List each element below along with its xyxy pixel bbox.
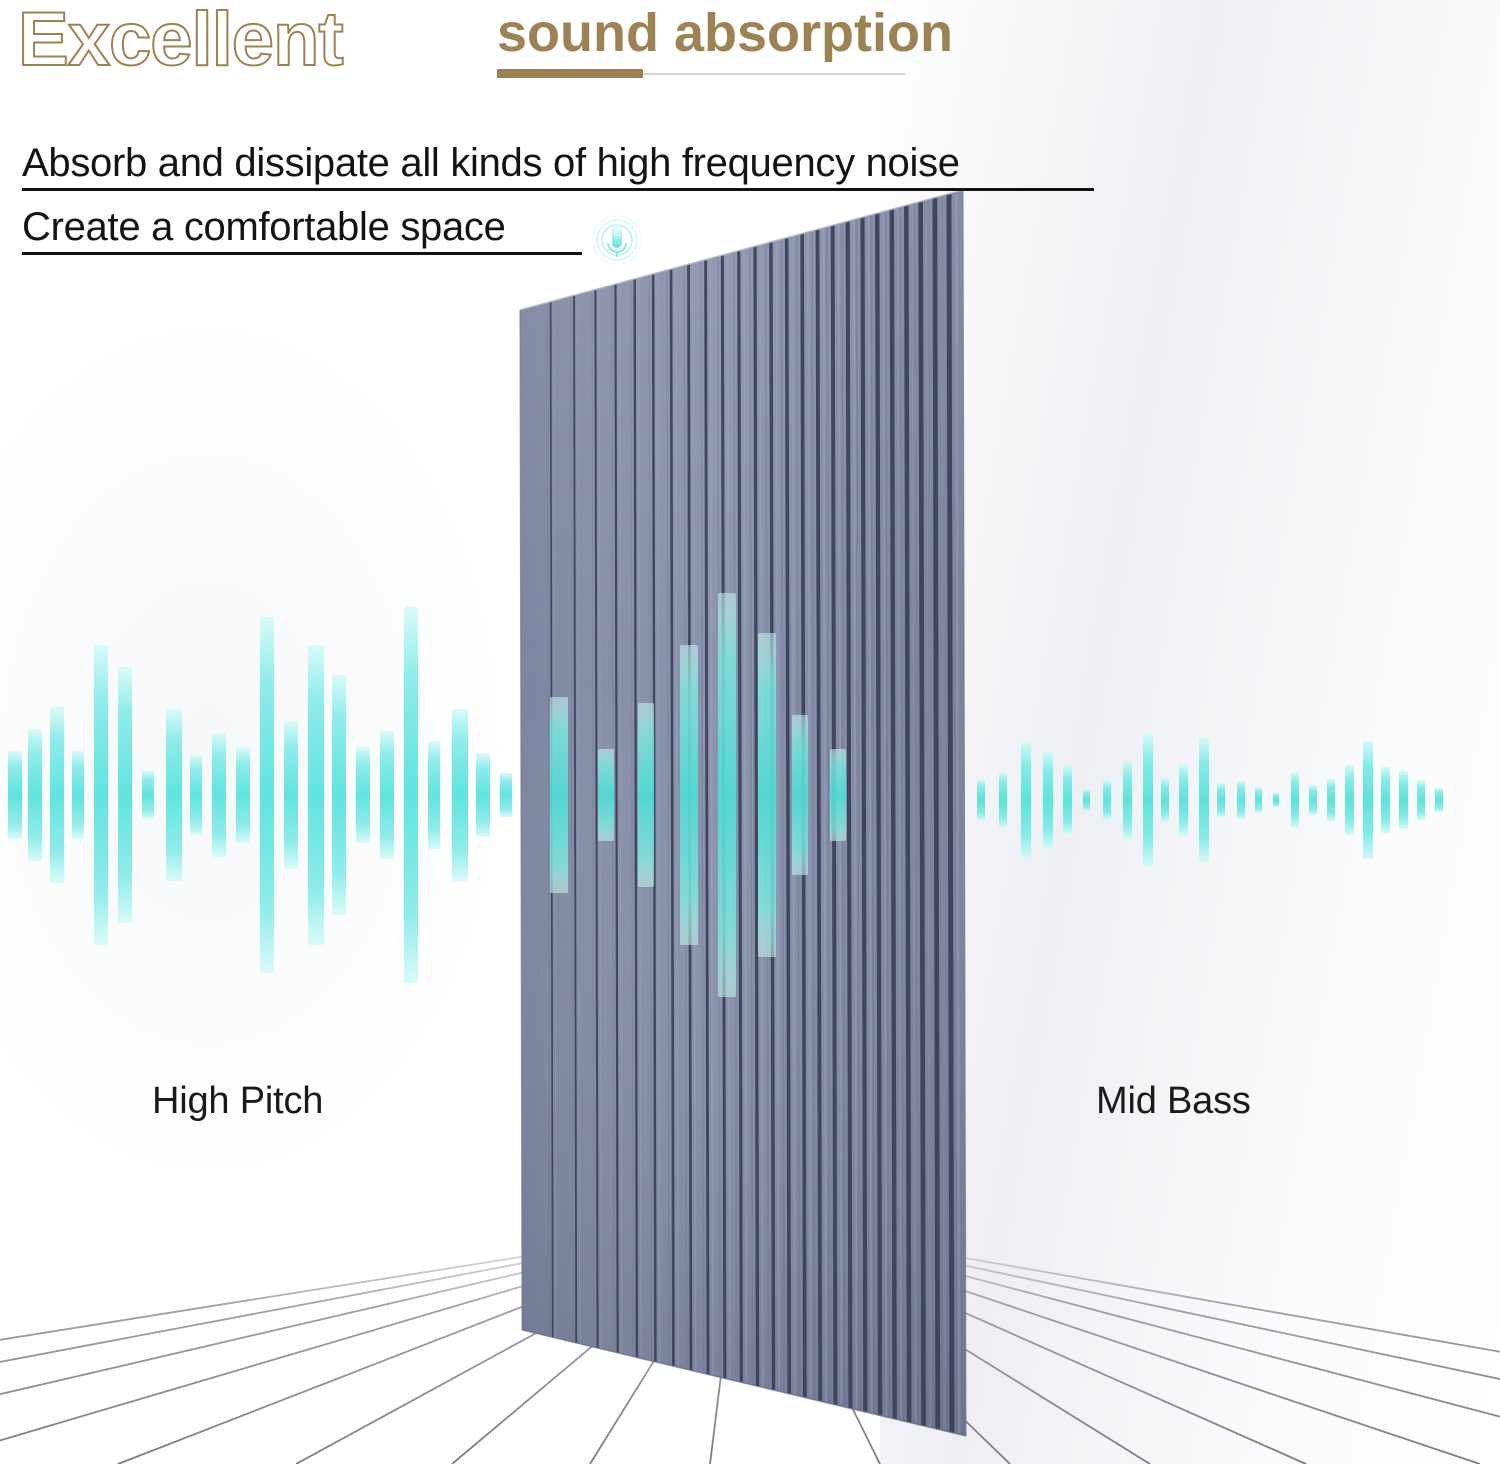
waveform-bar: [1363, 741, 1373, 859]
perspective-floor-grid: [0, 1232, 1500, 1464]
waveform-bar: [550, 697, 568, 893]
waveform-bar: [28, 729, 42, 861]
waveform-bar: [1309, 785, 1317, 815]
floor-grid-svg: [0, 1232, 1500, 1464]
waveform-bar: [1179, 764, 1188, 836]
waveform-bar: [260, 617, 274, 973]
waveform-bar: [999, 772, 1007, 828]
waveform-bar: [118, 667, 132, 923]
waveform-bar: [1435, 788, 1443, 812]
waveform-through-panel: [520, 560, 970, 1030]
waveform-bar: [356, 747, 370, 843]
subtitle-line-2-underline: [22, 252, 582, 255]
waveform-bar: [1255, 787, 1262, 813]
waveform-bar: [1083, 789, 1090, 811]
waveform-bar: [166, 709, 182, 881]
waveform-bar: [1291, 772, 1299, 828]
waveform-bar: [142, 771, 154, 819]
waveform-bar: [212, 733, 226, 857]
waveform-bar: [718, 593, 736, 997]
subtitle-line-1: Absorb and dissipate all kinds of high f…: [22, 140, 960, 186]
waveform-bar: [236, 747, 250, 843]
waveform-bar: [1103, 780, 1111, 820]
waveform-bar: [758, 633, 776, 957]
waveform-bar: [1381, 767, 1390, 833]
title-outlined-word: Excellent: [18, 0, 343, 82]
waveform-bar: [792, 715, 808, 875]
waveform-bar: [680, 645, 698, 945]
waveform-high-pitch: [0, 560, 520, 1030]
waveform-bar: [284, 721, 298, 869]
waveform-bar: [1143, 733, 1153, 867]
waveform-mid-bass-svg: [965, 700, 1455, 900]
waveform-high-pitch-svg: [0, 560, 520, 1030]
waveform-bar: [50, 707, 64, 883]
waveform-bar: [404, 607, 418, 983]
waveform-bar: [1273, 793, 1279, 807]
waveform-through-panel-svg: [520, 560, 970, 1030]
microphone-icon-svg: [589, 212, 645, 268]
infographic-canvas: Excellent sound absorption Absorb and di…: [0, 0, 1500, 1464]
subtitle-line-1-underline: [22, 188, 1094, 191]
waveform-bar: [1021, 742, 1031, 858]
waveform-bar: [1217, 783, 1225, 817]
waveform-bar: [308, 645, 324, 945]
waveform-bar: [598, 749, 614, 841]
waveform-bar: [1043, 751, 1053, 849]
page-title: Excellent: [18, 0, 343, 82]
waveform-mid-bass: [965, 700, 1455, 900]
waveform-bar: [380, 731, 394, 859]
label-high-pitch: High Pitch: [152, 1080, 323, 1123]
label-mid-bass: Mid Bass: [1096, 1080, 1251, 1123]
waveform-bar: [1417, 780, 1425, 820]
waveform-bar: [1123, 761, 1132, 839]
waveform-bar: [977, 779, 985, 821]
waveform-bar: [94, 645, 108, 945]
waveform-bar: [1237, 781, 1245, 819]
waveform-bar: [476, 753, 490, 837]
waveform-bar: [638, 703, 654, 887]
waveform-bar: [830, 749, 846, 841]
title-rule-thick: [497, 69, 643, 78]
waveform-bar: [72, 751, 84, 839]
waveform-bar: [428, 741, 440, 849]
waveform-bar: [190, 755, 202, 835]
waveform-bar: [8, 751, 22, 839]
waveform-bar: [452, 709, 468, 881]
title-solid-words: sound absorption: [497, 3, 953, 63]
waveform-bar: [500, 773, 512, 817]
waveform-bar: [332, 675, 346, 915]
waveform-bar: [1199, 738, 1209, 862]
waveform-bar: [1345, 765, 1354, 835]
waveform-bar: [1063, 765, 1072, 835]
subtitle-line-2: Create a comfortable space: [22, 204, 506, 250]
title-rule-thin: [643, 73, 905, 75]
title-solid-group: sound absorption: [497, 3, 953, 63]
waveform-bar: [1327, 779, 1335, 821]
waveform-bar: [1161, 778, 1169, 822]
title-accent-rule: [497, 69, 905, 72]
waveform-bar: [1399, 771, 1408, 829]
microphone-icon: [589, 212, 645, 268]
